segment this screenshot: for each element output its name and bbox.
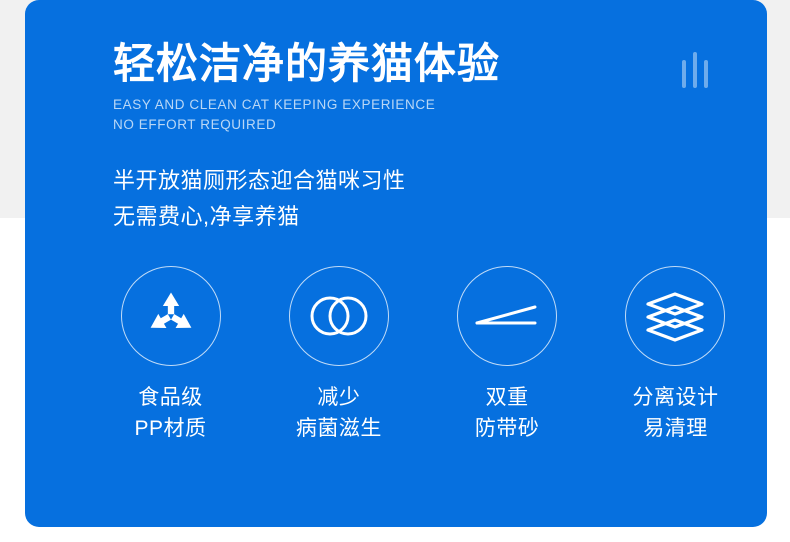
feature-label-food-grade: 食品级 PP材质 — [134, 382, 206, 444]
feature-item-double-barrier: 双重 防带砂 — [430, 266, 585, 444]
wedge-icon — [457, 266, 557, 366]
feature-label-line2: 病菌滋生 — [296, 413, 382, 444]
feature-label-double-barrier: 双重 防带砂 — [475, 382, 540, 444]
subtitle-english-line1: EASY AND CLEAN CAT KEEPING EXPERIENCE — [113, 95, 500, 115]
feature-item-food-grade: 食品级 PP材质 — [93, 266, 248, 444]
feature-label-line2: PP材质 — [134, 413, 206, 444]
overlapping-circles-icon — [289, 266, 389, 366]
feature-label-reduce-bacteria: 减少 病菌滋生 — [296, 382, 382, 444]
feature-label-line2: 易清理 — [632, 413, 718, 444]
hero-card: 轻松洁净的养猫体验 EASY AND CLEAN CAT KEEPING EXP… — [25, 0, 767, 527]
feature-item-reduce-bacteria: 减少 病菌滋生 — [261, 266, 416, 444]
promo-banner-page: 轻松洁净的养猫体验 EASY AND CLEAN CAT KEEPING EXP… — [0, 0, 790, 542]
feature-label-line1: 减少 — [296, 382, 382, 413]
subtitle-english: EASY AND CLEAN CAT KEEPING EXPERIENCE NO… — [113, 95, 500, 134]
feature-label-line2: 防带砂 — [475, 413, 540, 444]
subtitle-english-line2: NO EFFORT REQUIRED — [113, 115, 500, 135]
description-block: 半开放猫厕形态迎合猫咪习性 无需费心,净享养猫 — [113, 163, 406, 234]
feature-list: 食品级 PP材质 减少 病菌滋生 — [93, 266, 753, 444]
feature-item-separable-design: 分离设计 易清理 — [598, 266, 753, 444]
description-line-2: 无需费心,净享养猫 — [113, 199, 406, 235]
three-vertical-bars-icon — [682, 52, 712, 88]
feature-label-line1: 分离设计 — [632, 382, 718, 413]
recycle-icon — [121, 266, 221, 366]
feature-label-line1: 食品级 — [134, 382, 206, 413]
stacked-layers-icon — [625, 266, 725, 366]
headline-block: 轻松洁净的养猫体验 EASY AND CLEAN CAT KEEPING EXP… — [113, 40, 500, 134]
description-line-1: 半开放猫厕形态迎合猫咪习性 — [113, 163, 406, 199]
page-title: 轻松洁净的养猫体验 — [113, 40, 500, 87]
feature-label-line1: 双重 — [475, 382, 540, 413]
feature-label-separable-design: 分离设计 易清理 — [632, 382, 718, 444]
